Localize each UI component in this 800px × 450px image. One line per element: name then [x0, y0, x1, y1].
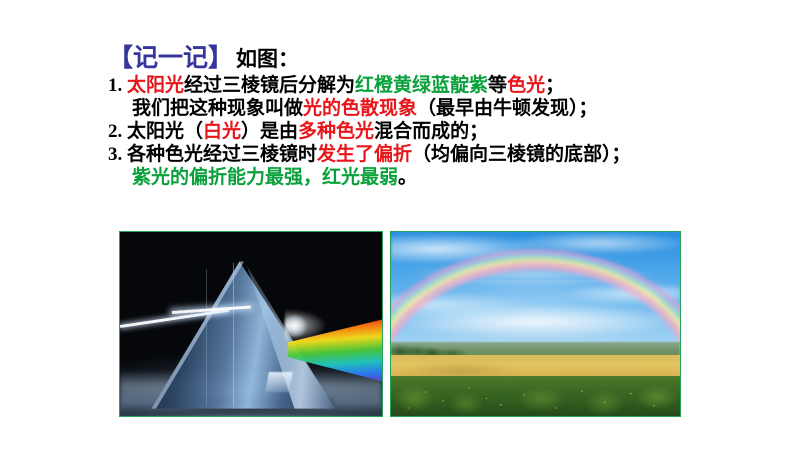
- text-run-toward-base: （均偏向三棱镜的底部）；: [412, 144, 631, 165]
- text-run-semicolon-1: ；: [545, 75, 564, 96]
- prism-inner-seam-secondary: [206, 269, 207, 405]
- text-run-white-light: 白光: [203, 121, 241, 142]
- page-title-rest: 如图：: [236, 47, 299, 71]
- lesson-line-3: 3. 各种色光经过三棱镜时发生了偏折（均偏向三棱镜的底部）；: [108, 143, 708, 166]
- text-run-sunlight: 太阳光: [127, 75, 184, 96]
- prism-photo-inner: [120, 232, 382, 416]
- text-run-dispersion-term: 光的色散现象: [303, 98, 417, 119]
- prism-dispersion-photo: [119, 231, 383, 417]
- text-run-violet-strongest: 紫光的偏折能力最强，红光最弱: [132, 167, 398, 188]
- list-number-2: 2.: [108, 121, 122, 142]
- rainbow-photo-inner: [391, 232, 680, 416]
- lesson-line-1: 1. 太阳光经过三棱镜后分解为红橙黄绿蓝靛紫等色光；: [108, 74, 708, 97]
- text-run-newton-note: （最早由牛顿发现）；: [417, 98, 598, 119]
- lesson-line-2: 2. 太阳光（白光）是由多种色光混合而成的；: [108, 120, 708, 143]
- text-run-close-isby: ）是由: [241, 121, 298, 142]
- slide-canvas: 【记一记】如图： 1. 太阳光经过三棱镜后分解为红橙黄绿蓝靛紫等色光； 我们把这…: [0, 0, 800, 450]
- yellow-flowers: [391, 376, 680, 416]
- text-run-refraction-occurs: 发生了偏折: [317, 144, 412, 165]
- text-run-many-colors: 多种色光: [298, 121, 374, 142]
- list-number-3: 3.: [108, 144, 122, 165]
- text-run-prism-split: 经过三棱镜后分解为: [184, 75, 355, 96]
- page-title-bracketed: 【记一记】: [108, 45, 233, 72]
- text-run-we-call-this: 我们把这种现象叫做: [132, 98, 303, 119]
- text-run-each-color-prism: 各种色光经过三棱镜时: [127, 144, 317, 165]
- text-run-mixed-from: 混合而成的；: [374, 121, 488, 142]
- spectrum-origin-glow: [285, 309, 327, 342]
- text-run-sunlight-open: 太阳光（: [127, 121, 203, 142]
- lesson-line-1b: 我们把这种现象叫做光的色散现象（最早由牛顿发现）；: [108, 97, 708, 120]
- page-title: 【记一记】如图：: [108, 44, 708, 74]
- lesson-text-block: 【记一记】如图： 1. 太阳光经过三棱镜后分解为红橙黄绿蓝靛紫等色光； 我们把这…: [108, 44, 708, 189]
- text-run-etc: 等: [488, 75, 507, 96]
- text-run-spectrum-colors: 红橙黄绿蓝靛紫: [355, 75, 488, 96]
- rainbow-field-photo: [390, 231, 681, 417]
- list-number-1: 1.: [108, 75, 122, 96]
- text-run-period: 。: [398, 167, 417, 188]
- prism-inner-seam: [233, 263, 235, 407]
- lesson-line-3b: 紫光的偏折能力最强，红光最弱。: [108, 166, 708, 189]
- text-run-colored-light: 色光: [507, 75, 545, 96]
